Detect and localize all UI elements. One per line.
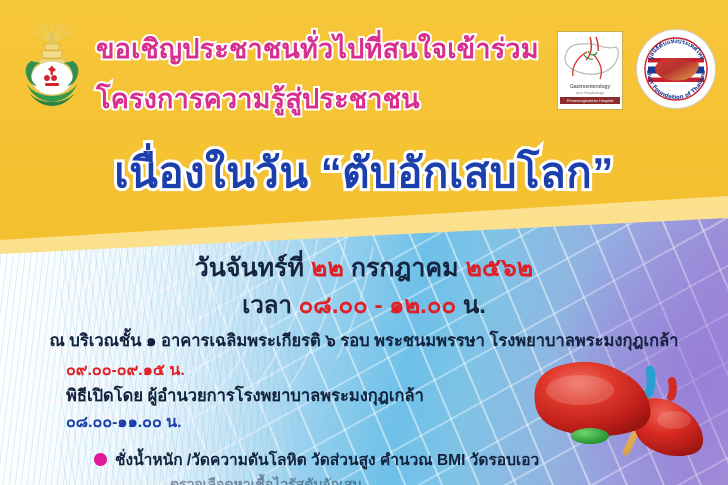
gastroenterology-logo: Gastroenterology and Hepatology Phramong…: [557, 31, 623, 110]
poster-canvas: ขอเชิญประชาชนทั่วไปที่สนใจเข้าร่วม โครงก…: [0, 0, 728, 485]
invite-line-1: ขอเชิญประชาชนทั่วไปที่สนใจเข้าร่วม: [96, 24, 526, 74]
liver-foundation-logo: มูลนิธิตับแห่งประเทศไทย Liver Foundation…: [637, 30, 715, 108]
time-label: เวลา: [242, 292, 292, 319]
schedule-item-0-time: ๐๙.๐๐-๐๙.๑๕ น.: [66, 358, 536, 383]
event-date-line: วันจันทร์ที่ ๒๒ กรกฎาคม ๒๕๖๒: [0, 248, 728, 288]
liver-lineart-icon: [560, 34, 620, 84]
gastro-logo-caption-3: Phramongkutklao Hospital: [560, 97, 620, 104]
header-invite-text: ขอเชิญประชาชนทั่วไปที่สนใจเข้าร่วม โครงก…: [96, 24, 526, 124]
page-title: เนื่องในวัน “ตับอักเสบโลก”: [0, 140, 728, 206]
time-range: ๐๘.๐๐ - ๑๒.๐๐: [299, 292, 456, 319]
date-day: ๒๒: [311, 254, 344, 282]
event-time-line: เวลา ๐๘.๐๐ - ๑๒.๐๐ น.: [0, 285, 728, 324]
activity-text: ชั่งน้ำหนัก /วัดความดันโลหิต วัดส่วนสูง …: [115, 447, 539, 472]
date-year: ๒๕๖๒: [466, 254, 534, 282]
liver-anatomy-illustration: [498, 348, 728, 485]
schedule-item-0-text: พิธีเปิดโดย ผู้อำนวยการโรงพยาบาลพระมงกุฎ…: [66, 383, 536, 410]
date-month: กรกฎาคม: [351, 254, 459, 282]
gastro-logo-caption-2: and Hepatology: [560, 90, 620, 95]
schedule-item-1-time: ๐๘.๐๐-๑๑.๐๐ น.: [66, 410, 536, 435]
schedule-list: ๐๙.๐๐-๐๙.๑๕ น. พิธีเปิดโดย ผู้อำนวยการโร…: [66, 358, 536, 435]
thai-royal-emblem-icon: [17, 21, 87, 113]
invite-line-2: โครงการความรู้สู่ประชาชน: [96, 74, 526, 124]
bullet-dot-icon: [94, 453, 107, 466]
time-unit: น.: [463, 292, 486, 319]
date-prefix: วันจันทร์ที่: [195, 254, 304, 282]
